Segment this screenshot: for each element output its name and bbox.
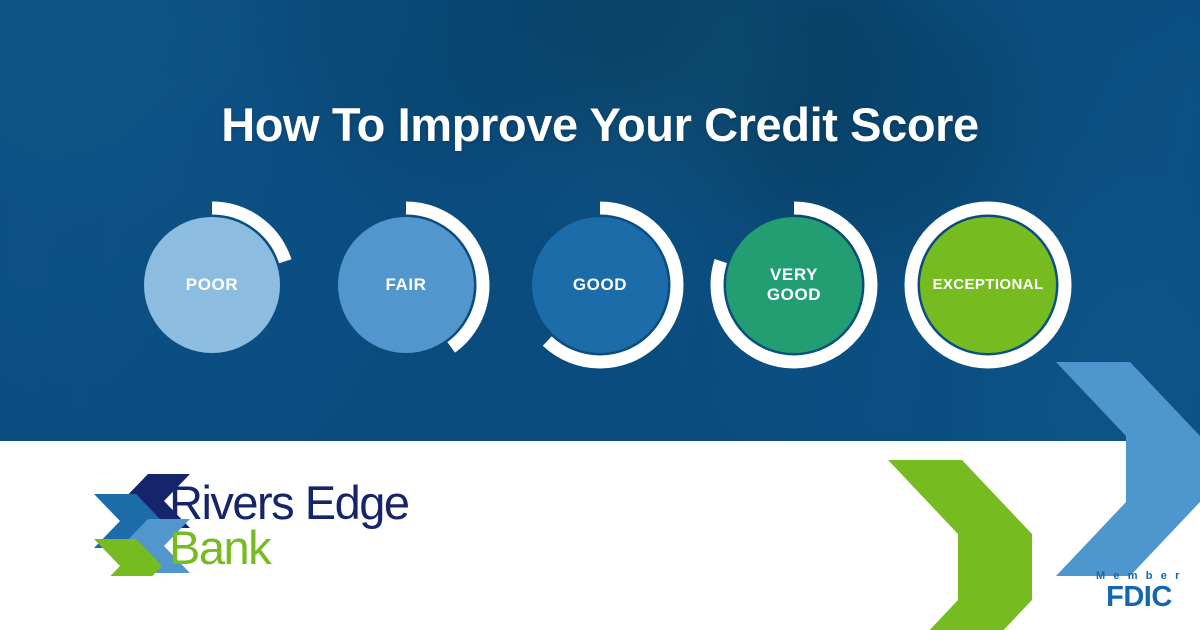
gauge-label: GOOD xyxy=(515,200,685,370)
chevron-left-icon xyxy=(1056,362,1200,576)
gauge-label: EXCEPTIONAL xyxy=(903,200,1073,370)
logo-wordmark-line2: Bank xyxy=(169,521,272,574)
gauge-label: VERYGOOD xyxy=(709,200,879,370)
gauge-very-good: VERYGOOD xyxy=(709,200,879,370)
page-title: How To Improve Your Credit Score xyxy=(0,100,1200,149)
gauge-good: GOOD xyxy=(515,200,685,370)
fdic-acronym-text: FDIC xyxy=(1096,583,1182,612)
gauge-label: FAIR xyxy=(321,200,491,370)
gauge-fair: FAIR xyxy=(321,200,491,370)
member-fdic-logo: M e m b e r FDIC xyxy=(1096,571,1182,612)
infographic-canvas: How To Improve Your Credit Score POORFAI… xyxy=(0,0,1200,630)
gauge-poor: POOR xyxy=(127,200,297,370)
gauge-label: POOR xyxy=(127,200,297,370)
gauge-exceptional: EXCEPTIONAL xyxy=(903,200,1073,370)
chevron-right-icon xyxy=(888,460,1032,630)
credit-score-gauge-row: POORFAIRGOODVERYGOODEXCEPTIONAL xyxy=(0,200,1200,370)
brand-logo[interactable]: Rivers Edge Bank xyxy=(92,471,422,576)
